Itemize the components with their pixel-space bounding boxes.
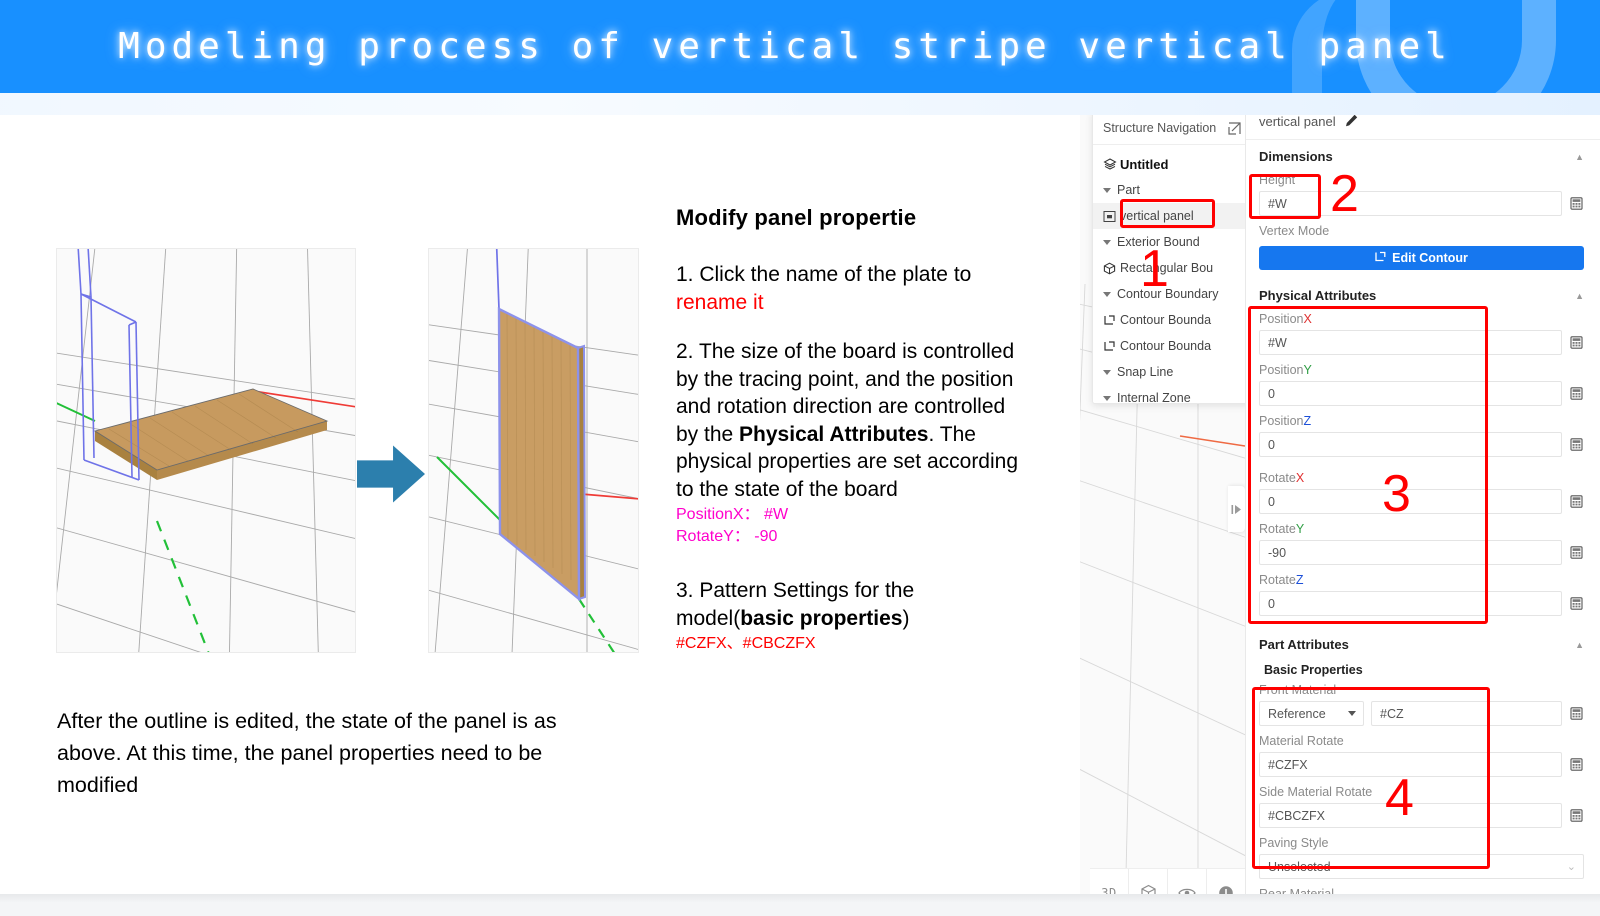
3d-viewport-after[interactable] [428, 248, 639, 653]
structure-tree[interactable]: Untitled Part vertical panel Ext [1093, 145, 1251, 404]
tree-item-label: Untitled [1120, 157, 1168, 172]
step3-bold: basic properties [740, 607, 902, 630]
tree-item-label: Snap Line [1117, 365, 1173, 379]
field-front-material: Front Material Reference #CZ [1246, 680, 1600, 731]
panel-collapse-handle[interactable] [1228, 486, 1245, 532]
field-rotate-y: RotateY -90 [1246, 519, 1600, 570]
field-side-material-rotate: Side Material Rotate #CBCZFX [1246, 782, 1600, 833]
chevron-down-icon[interactable] [1103, 240, 1117, 245]
chevron-down-icon[interactable] [1103, 396, 1117, 401]
chevron-down-icon[interactable] [1103, 188, 1117, 193]
calculator-icon[interactable] [1569, 707, 1584, 720]
page-title: Modeling process of vertical stripe vert… [0, 0, 1600, 93]
chevron-up-icon[interactable]: ▲ [1575, 640, 1584, 650]
field-paving-style: Paving Style Unselected ⌄ [1246, 833, 1600, 884]
annotation-number-3: 3 [1382, 468, 1411, 520]
field-position-z-label: PositionZ [1259, 413, 1584, 429]
edit-contour-label: Edit Contour [1392, 251, 1468, 265]
tree-item-label: vertical panel [1120, 209, 1194, 223]
front-material-select-value: Reference [1268, 707, 1326, 721]
app-screenshot: Structure Navigation Untitled Part [1080, 104, 1600, 916]
calculator-icon[interactable] [1569, 809, 1584, 822]
field-position-y-label: PositionY [1259, 362, 1584, 378]
step2-note-rotatey: RotateY： -90 [676, 527, 1026, 547]
panel-icon [1103, 210, 1120, 223]
paving-style-value: Unselected [1268, 860, 1331, 874]
left-caption: After the outline is edited, the state o… [57, 705, 627, 801]
viewport-before-scene [57, 249, 356, 653]
calculator-icon[interactable] [1569, 758, 1584, 771]
step2-bold: Physical Attributes [739, 423, 928, 446]
object-name: vertical panel [1259, 114, 1336, 129]
field-position-x: PositionX #W [1246, 309, 1600, 360]
transform-arrow-icon [357, 443, 425, 505]
field-rotate-z: RotateZ 0 [1246, 570, 1600, 621]
annotation-number-1: 1 [1140, 243, 1169, 295]
instruction-step-2: 2. The size of the board is controlled b… [676, 338, 1026, 547]
page-bottom-edge [0, 894, 1600, 916]
front-material-select[interactable]: Reference [1259, 701, 1364, 726]
tree-item-label: Contour Bounda [1120, 339, 1211, 353]
subsection-basic-properties: Basic Properties [1246, 658, 1600, 680]
chevron-down-icon[interactable] [1103, 292, 1117, 297]
chevron-up-icon[interactable]: ▲ [1575, 291, 1584, 301]
calculator-icon[interactable] [1569, 336, 1584, 349]
section-dimensions[interactable]: Dimensions ▲ [1246, 140, 1600, 170]
field-rotate-x: RotateX 0 [1246, 462, 1600, 519]
height-input[interactable]: #W [1259, 191, 1562, 216]
structure-navigation-title: Structure Navigation [1103, 121, 1216, 135]
rotate-y-input[interactable]: -90 [1259, 540, 1562, 565]
front-material-input[interactable]: #CZ [1371, 701, 1562, 726]
vertex-mode-label: Vertex Mode [1259, 223, 1584, 239]
calculator-icon[interactable] [1569, 387, 1584, 400]
step1-text: 1. Click the name of the plate to [676, 263, 971, 286]
3d-viewport-before[interactable] [56, 248, 356, 653]
tree-item-contour-bound-2[interactable]: Contour Bounda [1093, 333, 1251, 359]
properties-panel: vertical panel Dimensions ▲ Height #W [1245, 104, 1600, 916]
layers-icon [1103, 157, 1120, 171]
tree-item-label: Part [1117, 183, 1140, 197]
rotate-z-input[interactable]: 0 [1259, 591, 1562, 616]
header-underglow [0, 93, 1600, 115]
field-height: Height #W [1246, 170, 1600, 221]
position-z-input[interactable]: 0 [1259, 432, 1562, 457]
chevron-up-icon[interactable]: ▲ [1575, 152, 1584, 162]
instructions-title: Modify panel propertie [676, 205, 1026, 231]
calculator-icon[interactable] [1569, 197, 1584, 210]
field-position-x-label: PositionX [1259, 311, 1584, 327]
instruction-step-3: 3. Pattern Settings for the model(basic … [676, 577, 1026, 654]
chevron-down-icon[interactable] [1103, 370, 1117, 375]
position-x-input[interactable]: #W [1259, 330, 1562, 355]
field-position-z: PositionZ 0 [1246, 411, 1600, 462]
calculator-icon[interactable] [1569, 438, 1584, 451]
section-part-attributes[interactable]: Part Attributes ▲ [1246, 628, 1600, 658]
edit-contour-icon [1375, 251, 1386, 265]
position-y-input[interactable]: 0 [1259, 381, 1562, 406]
tree-item-label: Contour Bounda [1120, 313, 1211, 327]
structure-navigation-panel[interactable]: Structure Navigation Untitled Part [1092, 111, 1252, 404]
tree-item-internal-zone[interactable]: Internal Zone [1093, 385, 1251, 404]
instructions-column: Modify panel propertie 1. Click the name… [676, 205, 1026, 676]
front-material-label: Front Material [1259, 682, 1584, 698]
section-part-attributes-label: Part Attributes [1259, 637, 1349, 652]
edit-contour-button[interactable]: Edit Contour [1259, 246, 1584, 270]
annotation-number-4: 4 [1385, 772, 1414, 824]
paving-style-label: Paving Style [1259, 835, 1584, 851]
tree-item-untitled[interactable]: Untitled [1093, 151, 1251, 177]
tree-item-contour-bound-1[interactable]: Contour Bounda [1093, 307, 1251, 333]
instruction-step-1: 1. Click the name of the plate to rename… [676, 261, 1026, 316]
section-physical-attributes[interactable]: Physical Attributes ▲ [1246, 279, 1600, 309]
slide-root: Modeling process of vertical stripe vert… [0, 0, 1600, 916]
collapse-arrow-icon [1231, 504, 1242, 515]
field-rotate-z-label: RotateZ [1259, 572, 1584, 588]
tree-item-rectangular-bound[interactable]: Rectangular Bou [1093, 255, 1251, 281]
step3-text-b: ) [902, 607, 909, 630]
step3-note: #CZFX、#CBCZFX [676, 634, 1026, 654]
calculator-icon[interactable] [1569, 597, 1584, 610]
field-rotate-y-label: RotateY [1259, 521, 1584, 537]
chevron-down-icon [1348, 711, 1356, 716]
tree-item-label: Internal Zone [1117, 391, 1191, 404]
tree-item-exterior-bound[interactable]: Exterior Bound [1093, 229, 1251, 255]
calculator-icon[interactable] [1569, 546, 1584, 559]
field-height-label: Height [1259, 172, 1584, 188]
tree-item-part[interactable]: Part [1093, 177, 1251, 203]
viewport-after-scene [429, 249, 639, 653]
calculator-icon[interactable] [1569, 495, 1584, 508]
side-material-rotate-label: Side Material Rotate [1259, 784, 1584, 800]
paving-style-select[interactable]: Unselected ⌄ [1259, 854, 1584, 879]
expand-icon[interactable] [1228, 122, 1241, 135]
section-physical-attributes-label: Physical Attributes [1259, 288, 1376, 303]
section-dimensions-label: Dimensions [1259, 149, 1333, 164]
tree-item-contour-boundary[interactable]: Contour Boundary [1093, 281, 1251, 307]
step2-note-positionx: PositionX： #W [676, 505, 1026, 525]
step1-highlight: rename it [676, 291, 764, 314]
box-icon [1103, 262, 1120, 275]
field-vertex-mode: Vertex Mode [1246, 221, 1600, 243]
field-rotate-x-label: RotateX [1259, 470, 1584, 486]
field-position-y: PositionY 0 [1246, 360, 1600, 411]
contour-icon [1103, 340, 1120, 353]
pencil-icon[interactable] [1345, 114, 1358, 130]
tree-item-vertical-panel[interactable]: vertical panel [1093, 203, 1251, 229]
contour-icon [1103, 314, 1120, 327]
chevron-down-icon: ⌄ [1567, 860, 1576, 873]
structure-navigation-header: Structure Navigation [1093, 112, 1251, 145]
annotation-number-2: 2 [1330, 168, 1359, 220]
field-material-rotate: Material Rotate #CZFX [1246, 731, 1600, 782]
material-rotate-label: Material Rotate [1259, 733, 1584, 749]
tree-item-snap-line[interactable]: Snap Line [1093, 359, 1251, 385]
